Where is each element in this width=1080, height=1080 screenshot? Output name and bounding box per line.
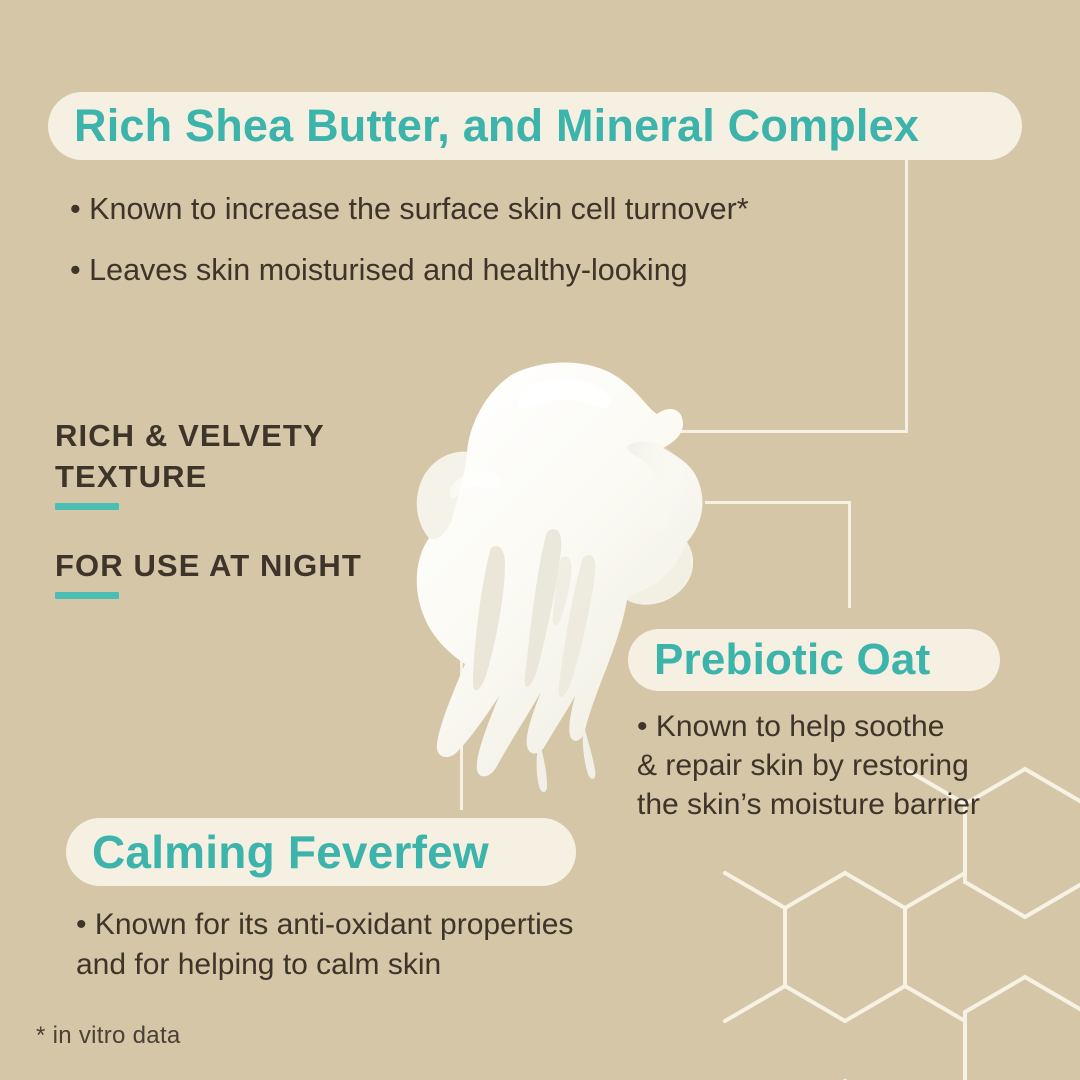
accent-bar-night (55, 592, 119, 599)
heading-pill-prebiotic-oat: Prebiotic Oat (628, 629, 1000, 691)
label-rich-velvety-texture: RICH & VELVETY TEXTURE (55, 415, 325, 497)
bullet-list-calming-feverfew: • Known for its anti-oxidant properties … (76, 905, 573, 985)
heading-shea-label: Rich Shea Butter, and Mineral Complex (74, 100, 919, 152)
heading-feverfew-label: Calming Feverfew (92, 825, 489, 879)
bullet-item: • Known to increase the surface skin cel… (70, 190, 749, 229)
heading-pill-calming-feverfew: Calming Feverfew (66, 818, 576, 886)
accent-bar-texture (55, 503, 119, 510)
footnote-in-vitro-data: * in vitro data (36, 1022, 181, 1050)
bullet-line: & repair skin by restoring (637, 746, 980, 785)
bullet-line: and for helping to calm skin (76, 945, 573, 985)
heading-oat-label: Prebiotic Oat (654, 635, 930, 685)
product-ingredient-infographic: Rich Shea Butter, and Mineral Complex • … (0, 0, 1080, 1080)
bullet-line: • Known for its anti-oxidant properties (76, 905, 573, 945)
bullet-line: • Known to help soothe (637, 707, 980, 746)
connector-oat-vertical (848, 501, 851, 608)
label-for-use-at-night: FOR USE AT NIGHT (55, 545, 362, 586)
connector-oat-horizontal (705, 501, 851, 504)
bullet-item: • Leaves skin moisturised and healthy-lo… (70, 251, 749, 290)
bullet-line: the skin’s moisture barrier (637, 785, 980, 824)
connector-shea-vertical (905, 160, 908, 432)
bullet-list-shea: • Known to increase the surface skin cel… (70, 190, 749, 289)
bullet-list-prebiotic-oat: • Known to help soothe & repair skin by … (637, 707, 980, 824)
heading-pill-shea: Rich Shea Butter, and Mineral Complex (48, 92, 1022, 160)
